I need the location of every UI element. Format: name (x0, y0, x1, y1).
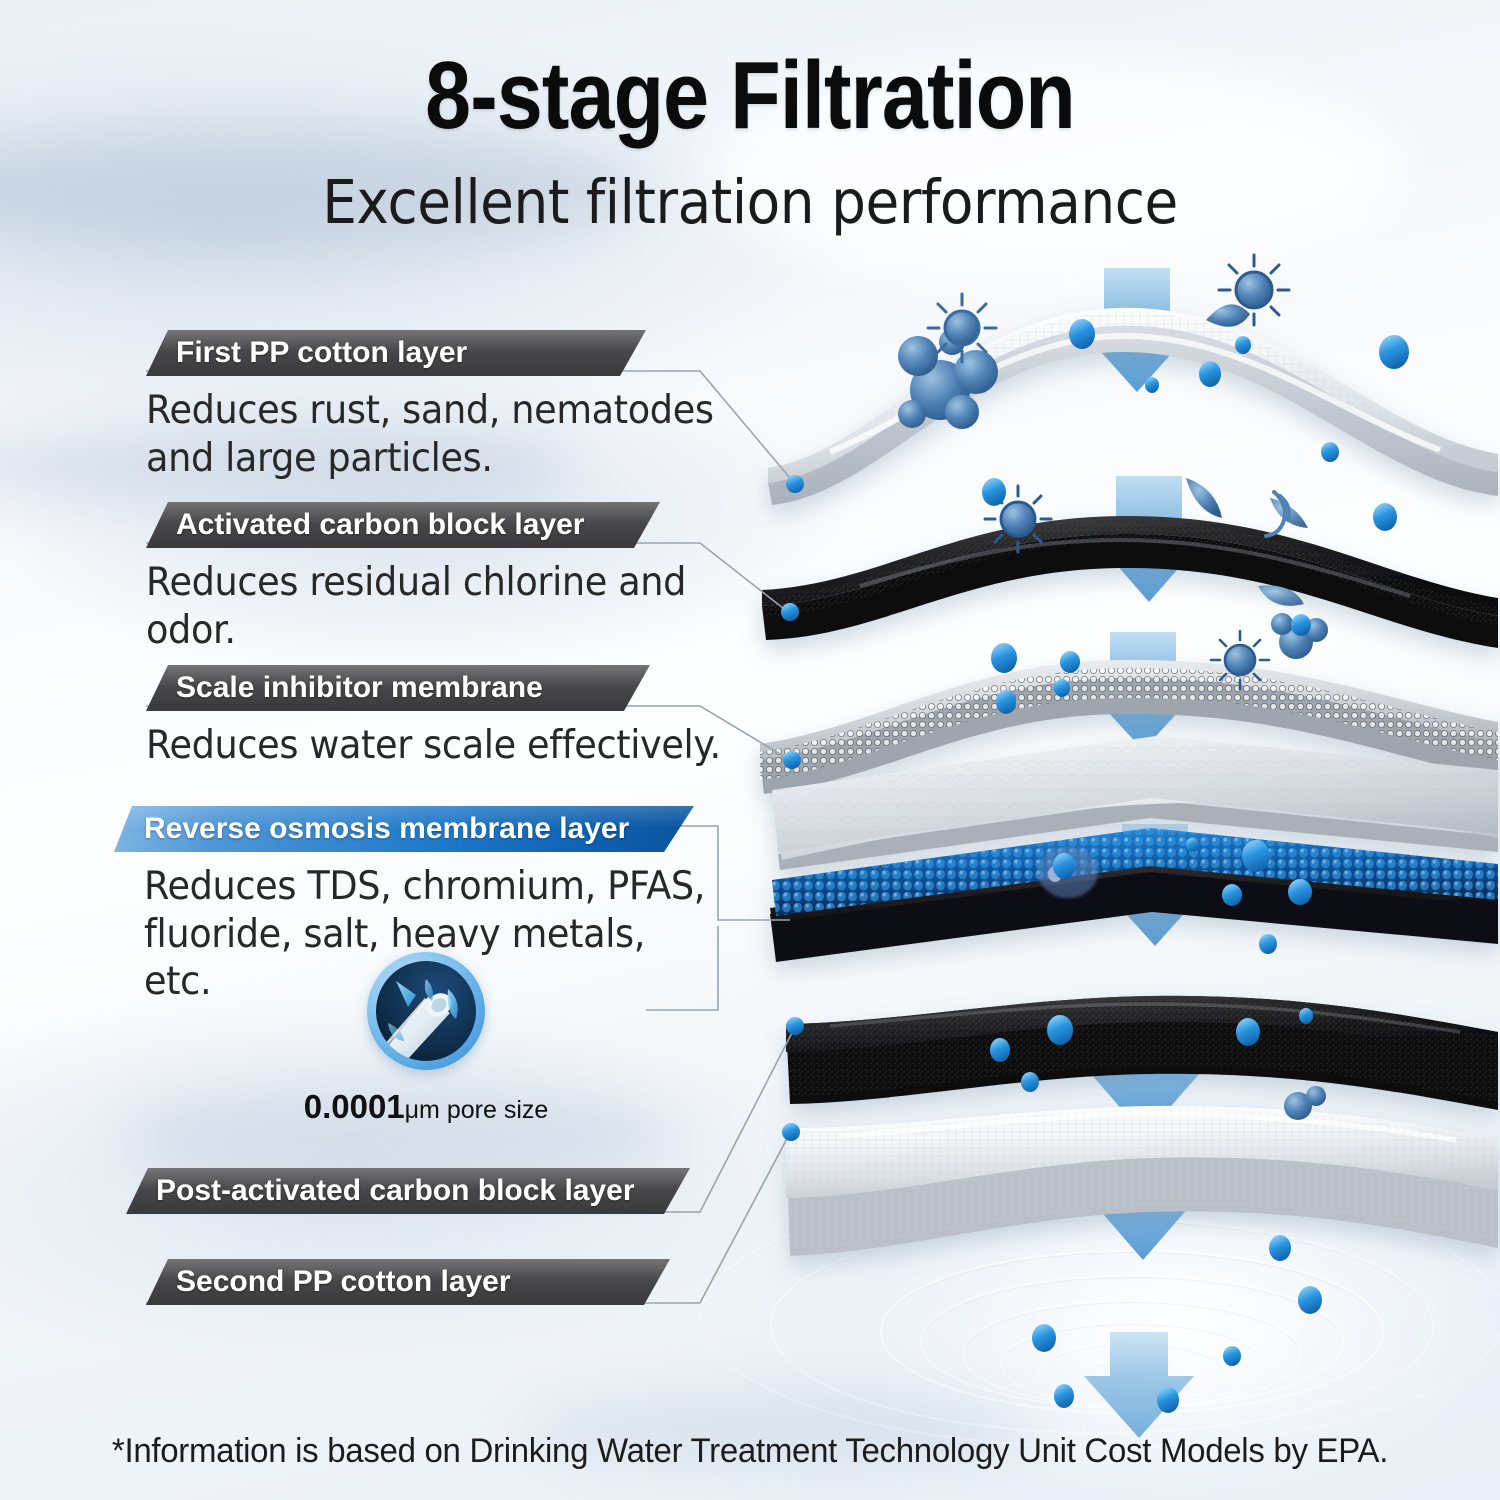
flow-arrow-group (1074, 268, 1218, 1438)
callout-activated-carbon-block[interactable]: Activated carbon block layer Reduces res… (146, 502, 766, 654)
layer-activated-carbon-block (762, 516, 1498, 648)
banner-post-activated-carbon-block[interactable]: Post-activated carbon block layer (126, 1168, 690, 1214)
callout-second-pp-cotton[interactable]: Second PP cotton layer (146, 1259, 786, 1305)
stain-blot (1038, 846, 1098, 898)
layer-post-activated-carbon (786, 996, 1498, 1110)
banner-reverse-osmosis-membrane[interactable]: Reverse osmosis membrane layer (114, 806, 694, 852)
banner-label: Activated carbon block layer (176, 508, 585, 542)
layer-second-pp-cotton (786, 1106, 1498, 1256)
contaminant-group (898, 255, 1328, 1120)
pore-size-circle (367, 952, 485, 1070)
callout-post-activated-carbon-block[interactable]: Post-activated carbon block layer (126, 1168, 766, 1214)
nematode-worm-icon-3 (1270, 498, 1308, 528)
flow-arrow-3 (1080, 632, 1206, 750)
bacteria-cluster-icon-3 (1284, 1086, 1326, 1120)
callout-description: Reduces rust, sand, nematodes and large … (146, 387, 729, 482)
nematode-worm-icon-5 (1266, 492, 1289, 536)
virus-spiky-icon (928, 294, 996, 362)
pore-size-label: 0.0001μm pore size (296, 1088, 556, 1126)
banner-first-pp-cotton[interactable]: First PP cotton layer (146, 330, 646, 376)
footer-note: *Information is based on Drinking Water … (23, 1432, 1478, 1471)
banner-label: Post-activated carbon block layer (156, 1174, 635, 1208)
nematode-worm-icon-2 (1186, 478, 1222, 518)
flow-arrow-2 (1086, 476, 1212, 602)
flow-arrow-7 (1084, 1332, 1194, 1438)
infographic-canvas: 8-stage Filtration Excellent filtration … (0, 0, 1500, 1500)
callout-description: Reduces water scale effectively. (146, 722, 729, 770)
nematode-worm-icon-4 (1258, 585, 1304, 605)
layer-reverse-osmosis-membrane (770, 736, 1498, 962)
pore-size-unit: μm pore size (405, 1096, 549, 1124)
pore-size-value: 0.0001 (304, 1088, 405, 1125)
bacteria-cluster-icon-2 (1271, 613, 1328, 659)
flow-arrow-6 (1084, 1142, 1202, 1260)
page-subtitle: Excellent filtration performance (75, 172, 1425, 233)
leader-endpoint-group (781, 475, 804, 1141)
flow-arrow-1 (1074, 268, 1200, 392)
nematode-worm-icon (1206, 304, 1250, 326)
banner-label: First PP cotton layer (176, 336, 467, 370)
banner-label: Second PP cotton layer (176, 1265, 511, 1299)
banner-second-pp-cotton[interactable]: Second PP cotton layer (146, 1259, 670, 1305)
bacteria-cluster-icon (898, 329, 998, 429)
banner-scale-inhibitor-membrane[interactable]: Scale inhibitor membrane (146, 665, 650, 711)
virus-spiky-icon-4 (1211, 631, 1269, 689)
callout-description: Reduces residual chlorine and odor. (146, 559, 729, 654)
callout-scale-inhibitor-membrane[interactable]: Scale inhibitor membrane Reduces water s… (146, 665, 766, 770)
banner-label: Scale inhibitor membrane (176, 671, 543, 705)
flow-arrow-5 (1084, 1014, 1206, 1136)
ro-membrane-roll-icon (376, 961, 476, 1061)
pore-size-badge: 0.0001μm pore size (296, 952, 556, 1126)
callout-first-pp-cotton[interactable]: First PP cotton layer Reduces rust, sand… (146, 330, 766, 482)
virus-spiky-icon-2 (1219, 255, 1289, 325)
virus-spiky-icon-3 (985, 486, 1051, 552)
layer-scale-inhibitor-membrane (760, 660, 1498, 794)
banner-label: Reverse osmosis membrane layer (144, 812, 629, 846)
layer-first-pp-cotton (768, 308, 1498, 505)
flow-arrow-4 (1092, 824, 1218, 946)
banner-activated-carbon-block[interactable]: Activated carbon block layer (146, 502, 660, 548)
page-title: 8-stage Filtration (105, 48, 1395, 144)
water-droplet-group (982, 319, 1409, 1413)
